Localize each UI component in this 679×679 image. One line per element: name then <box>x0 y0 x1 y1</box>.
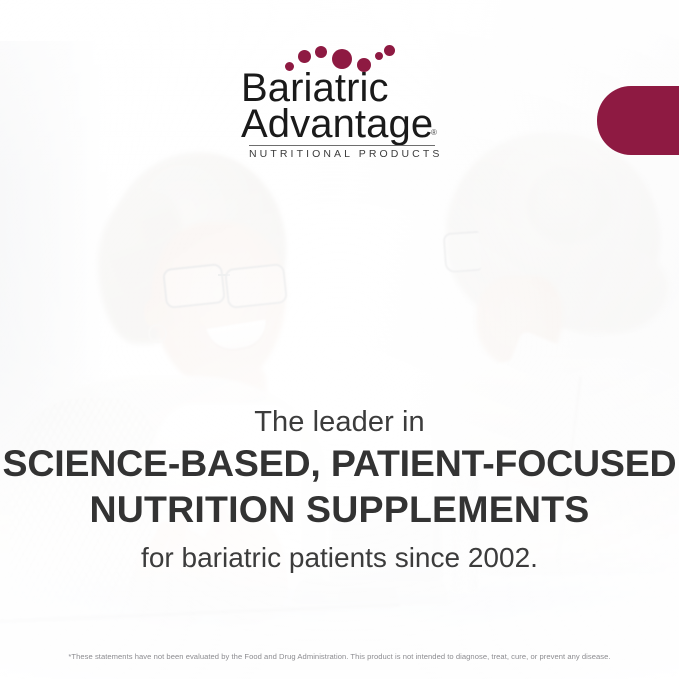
logo-dot-2 <box>298 50 311 63</box>
logo-dot-7 <box>384 45 395 56</box>
headline-line-1: SCIENCE-BASED, PATIENT-FOCUSED <box>0 440 679 486</box>
fda-disclaimer: *These statements have not been evaluate… <box>0 651 679 662</box>
logo-tagline: NUTRITIONAL PRODUCTS <box>249 148 441 160</box>
headline-line-2: NUTRITION SUPPLEMENTS <box>0 486 679 532</box>
headline-kicker: The leader in <box>0 404 679 440</box>
advertisement-banner: Bariatric Advantage ® NUTRITIONAL PRODUC… <box>0 0 679 679</box>
logo-divider-rule <box>249 145 435 146</box>
accent-pill-shape <box>597 86 679 155</box>
registered-trademark-mark: ® <box>431 128 437 137</box>
logo-dot-3 <box>315 46 327 58</box>
headline-subline: for bariatric patients since 2002. <box>0 540 679 576</box>
brand-logo: Bariatric Advantage ® NUTRITIONAL PRODUC… <box>241 44 441 156</box>
logo-word-advantage: Advantage <box>241 102 433 146</box>
headline-block: The leader in SCIENCE-BASED, PATIENT-FOC… <box>0 404 679 576</box>
logo-dot-6 <box>375 52 383 60</box>
